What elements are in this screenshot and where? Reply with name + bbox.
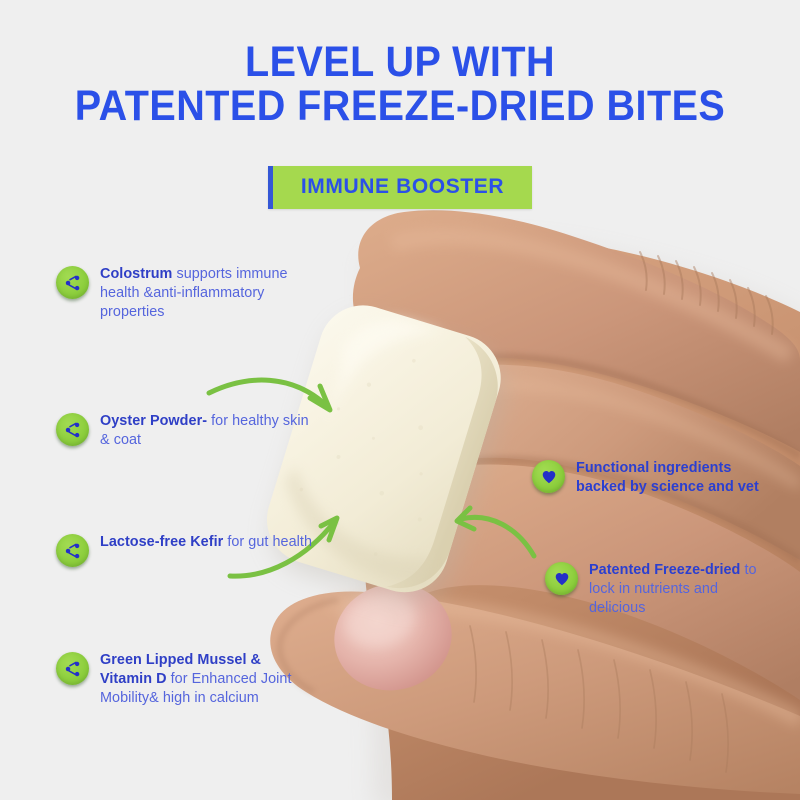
- callout-oyster-powder-text: Oyster Powder- for healthy skin & coat: [100, 412, 315, 450]
- share-nodes-icon: [56, 652, 89, 685]
- callout-patented-freeze-dried-text: Patented Freeze-dried to lock in nutrien…: [589, 561, 774, 618]
- callout-functional-ingredients: Functional ingredients backed by science…: [532, 459, 761, 497]
- callout-functional-ingredients-bold: Functional ingredients backed by science…: [576, 460, 759, 495]
- callout-lactose-free-kefir-text: Lactose-free Kefir for gut health: [100, 533, 312, 552]
- immune-booster-badge: IMMUNE BOOSTER: [268, 166, 532, 209]
- callout-lactose-free-kefir-rest: for gut health: [223, 534, 312, 550]
- poster-canvas: LEVEL UP WITH PATENTED FREEZE-DRIED BITE…: [0, 0, 800, 800]
- share-nodes-icon: [56, 266, 89, 299]
- heart-icon: [545, 562, 578, 595]
- callout-patented-freeze-dried: Patented Freeze-dried to lock in nutrien…: [545, 561, 774, 618]
- callout-colostrum-text: Colostrum supports immune health &anti-i…: [100, 265, 315, 322]
- callout-colostrum: Colostrum supports immune health &anti-i…: [56, 265, 315, 322]
- callout-patented-freeze-dried-bold: Patented Freeze-dried: [589, 562, 740, 578]
- callout-green-lipped-mussel-text: Green Lipped Mussel & Vitamin D for Enha…: [100, 651, 315, 708]
- callout-lactose-free-kefir: Lactose-free Kefir for gut health: [56, 533, 312, 567]
- callout-oyster-powder-bold: Oyster Powder-: [100, 413, 207, 429]
- callout-green-lipped-mussel: Green Lipped Mussel & Vitamin D for Enha…: [56, 651, 315, 708]
- share-nodes-icon: [56, 534, 89, 567]
- heart-icon: [532, 460, 565, 493]
- callout-lactose-free-kefir-bold: Lactose-free Kefir: [100, 534, 223, 550]
- callout-oyster-powder: Oyster Powder- for healthy skin & coat: [56, 412, 315, 450]
- badge-container: IMMUNE BOOSTER: [0, 166, 800, 209]
- share-nodes-icon: [56, 413, 89, 446]
- callout-functional-ingredients-text: Functional ingredients backed by science…: [576, 459, 761, 497]
- callout-colostrum-bold: Colostrum: [100, 266, 172, 282]
